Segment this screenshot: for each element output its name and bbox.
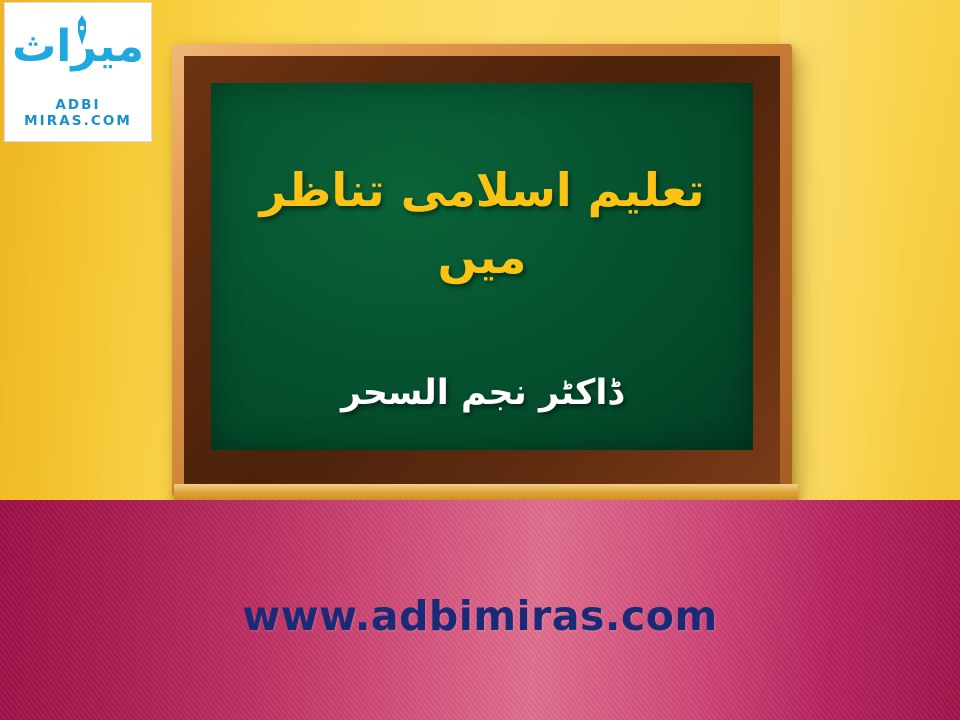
brand-logo-card[interactable]: میراث ADBI MIRAS.COM — [4, 2, 152, 142]
chalkboard-surface: تعلیم اسلامی تناظر میں ڈاکٹر نجم السحر — [211, 83, 753, 450]
presentation-author: ڈاکٹر نجم السحر — [211, 373, 753, 413]
chalkboard-frame-inner: تعلیم اسلامی تناظر میں ڈاکٹر نجم السحر — [184, 56, 780, 484]
chalkboard-frame: تعلیم اسلامی تناظر میں ڈاکٹر نجم السحر — [172, 44, 792, 496]
presentation-title: تعلیم اسلامی تناظر میں — [211, 157, 753, 290]
logo-mark: میراث — [5, 9, 151, 107]
logo-wordmark: ADBI MIRAS.COM — [5, 97, 151, 129]
slide-canvas: تعلیم اسلامی تناظر میں ڈاکٹر نجم السحر w… — [0, 0, 960, 720]
logo-urdu-mark: میراث — [5, 25, 151, 69]
wall-light-glow — [780, 0, 960, 560]
website-url[interactable]: www.adbimiras.com — [0, 592, 960, 640]
chalkboard: تعلیم اسلامی تناظر میں ڈاکٹر نجم السحر — [172, 44, 792, 496]
